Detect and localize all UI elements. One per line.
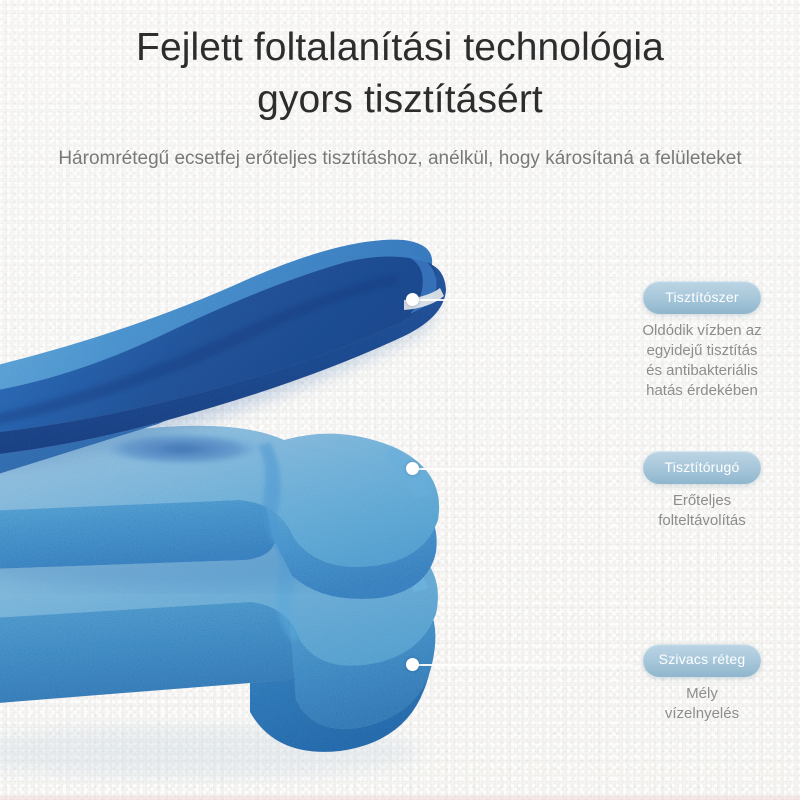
connector-line-sponge [418, 664, 633, 666]
desc-line: egyidejű tisztítás [612, 341, 792, 361]
page-title: Fejlett foltalanítási technológia gyors … [0, 0, 800, 126]
connector-dot-cleaning-agent [406, 293, 419, 306]
description-cleaning-agent: Oldódik vízben az egyidejű tisztítás és … [612, 321, 792, 401]
description-cleaning-spring: Erőteljes folteltávolítás [612, 491, 792, 531]
callout-sponge: Szivacs réteg Mély vízelnyelés [612, 644, 792, 724]
bottom-edge-tint [0, 794, 800, 800]
description-sponge: Mély vízelnyelés [612, 684, 792, 724]
title-line-2: gyors tisztításért [0, 74, 800, 126]
subtitle-line-2: károsítaná a felületeket [545, 148, 741, 169]
connector-line-cleaning-agent [418, 299, 633, 301]
infographic-canvas: Fejlett foltalanítási technológia gyors … [0, 0, 800, 800]
badge-cleaning-agent[interactable]: Tisztítószer [643, 281, 761, 314]
desc-line: folteltávolítás [612, 511, 792, 531]
desc-line: és antibakteriális [612, 361, 792, 381]
subtitle-line-1: Háromrétegű ecsetfej erőteljes tisztítás… [58, 148, 540, 169]
title-line-1: Fejlett foltalanítási technológia [136, 26, 664, 69]
desc-line: vízelnyelés [612, 704, 792, 724]
connector-dot-cleaning-spring [406, 462, 419, 475]
page-subtitle: Háromrétegű ecsetfej erőteljes tisztítás… [50, 126, 750, 174]
desc-line: Mély [612, 684, 792, 704]
connector-dot-sponge [406, 658, 419, 671]
desc-line: Oldódik vízben az [612, 321, 792, 341]
desc-line: hatás érdekében [612, 381, 792, 401]
header-block: Fejlett foltalanítási technológia gyors … [0, 0, 800, 174]
badge-cleaning-spring[interactable]: Tisztítórugó [643, 451, 761, 484]
callout-cleaning-spring: Tisztítórugó Erőteljes folteltávolítás [612, 451, 792, 531]
badge-sponge[interactable]: Szivacs réteg [643, 644, 761, 677]
callout-cleaning-agent: Tisztítószer Oldódik vízben az egyidejű … [612, 281, 792, 401]
desc-line: Erőteljes [612, 491, 792, 511]
connector-line-cleaning-spring [418, 468, 633, 470]
